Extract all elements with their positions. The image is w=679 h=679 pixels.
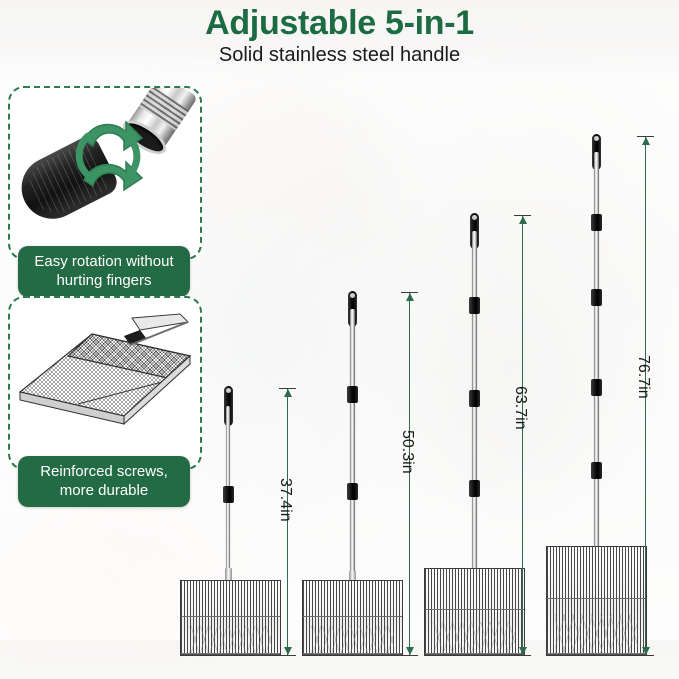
locking-collar (591, 289, 602, 306)
dimension-label-size-2: 50.3in (398, 430, 416, 474)
pole-segment (350, 309, 355, 581)
locking-collar (591, 462, 602, 479)
feature-photo-reinforced-screws (8, 296, 202, 470)
locking-collar (591, 379, 602, 396)
locking-collar (469, 390, 480, 407)
feature-card-reinforced-screws: Reinforced screws, more durable (8, 296, 198, 507)
dimension-label-size-4: 76.7in (634, 355, 652, 399)
locking-collar (469, 297, 480, 314)
page-subtitle: Solid stainless steel handle (0, 44, 679, 67)
locking-collar (591, 214, 602, 231)
page-title: Adjustable 5-in-1 (0, 4, 679, 43)
product-infographic: Adjustable 5-in-1 Solid stainless steel … (0, 0, 679, 679)
rake-head (546, 546, 647, 656)
locking-collar (347, 386, 358, 403)
rake-head (180, 580, 281, 656)
locking-collar (469, 480, 480, 497)
rotation-arrows-icon (62, 110, 154, 202)
dimension-line-size-2 (409, 292, 410, 656)
header: Adjustable 5-in-1 Solid stainless steel … (0, 0, 679, 80)
feature-caption: Easy rotation without hurting fingers (18, 246, 190, 297)
mesh-rake-head-icon (12, 312, 198, 442)
feature-card-easy-rotation: Easy rotation without hurting fingers (8, 86, 198, 297)
dimension-label-size-3: 63.7in (511, 386, 529, 430)
feature-caption: Reinforced screws, more durable (18, 456, 190, 507)
rake-head (302, 580, 403, 656)
feature-photo-easy-rotation (8, 86, 202, 260)
dimension-label-size-1: 37.4in (276, 478, 294, 522)
locking-collar (223, 486, 234, 503)
dimension-line-size-1 (287, 388, 288, 656)
locking-collar (347, 483, 358, 500)
rake-head (424, 568, 525, 656)
dimension-line-size-3 (522, 215, 523, 656)
